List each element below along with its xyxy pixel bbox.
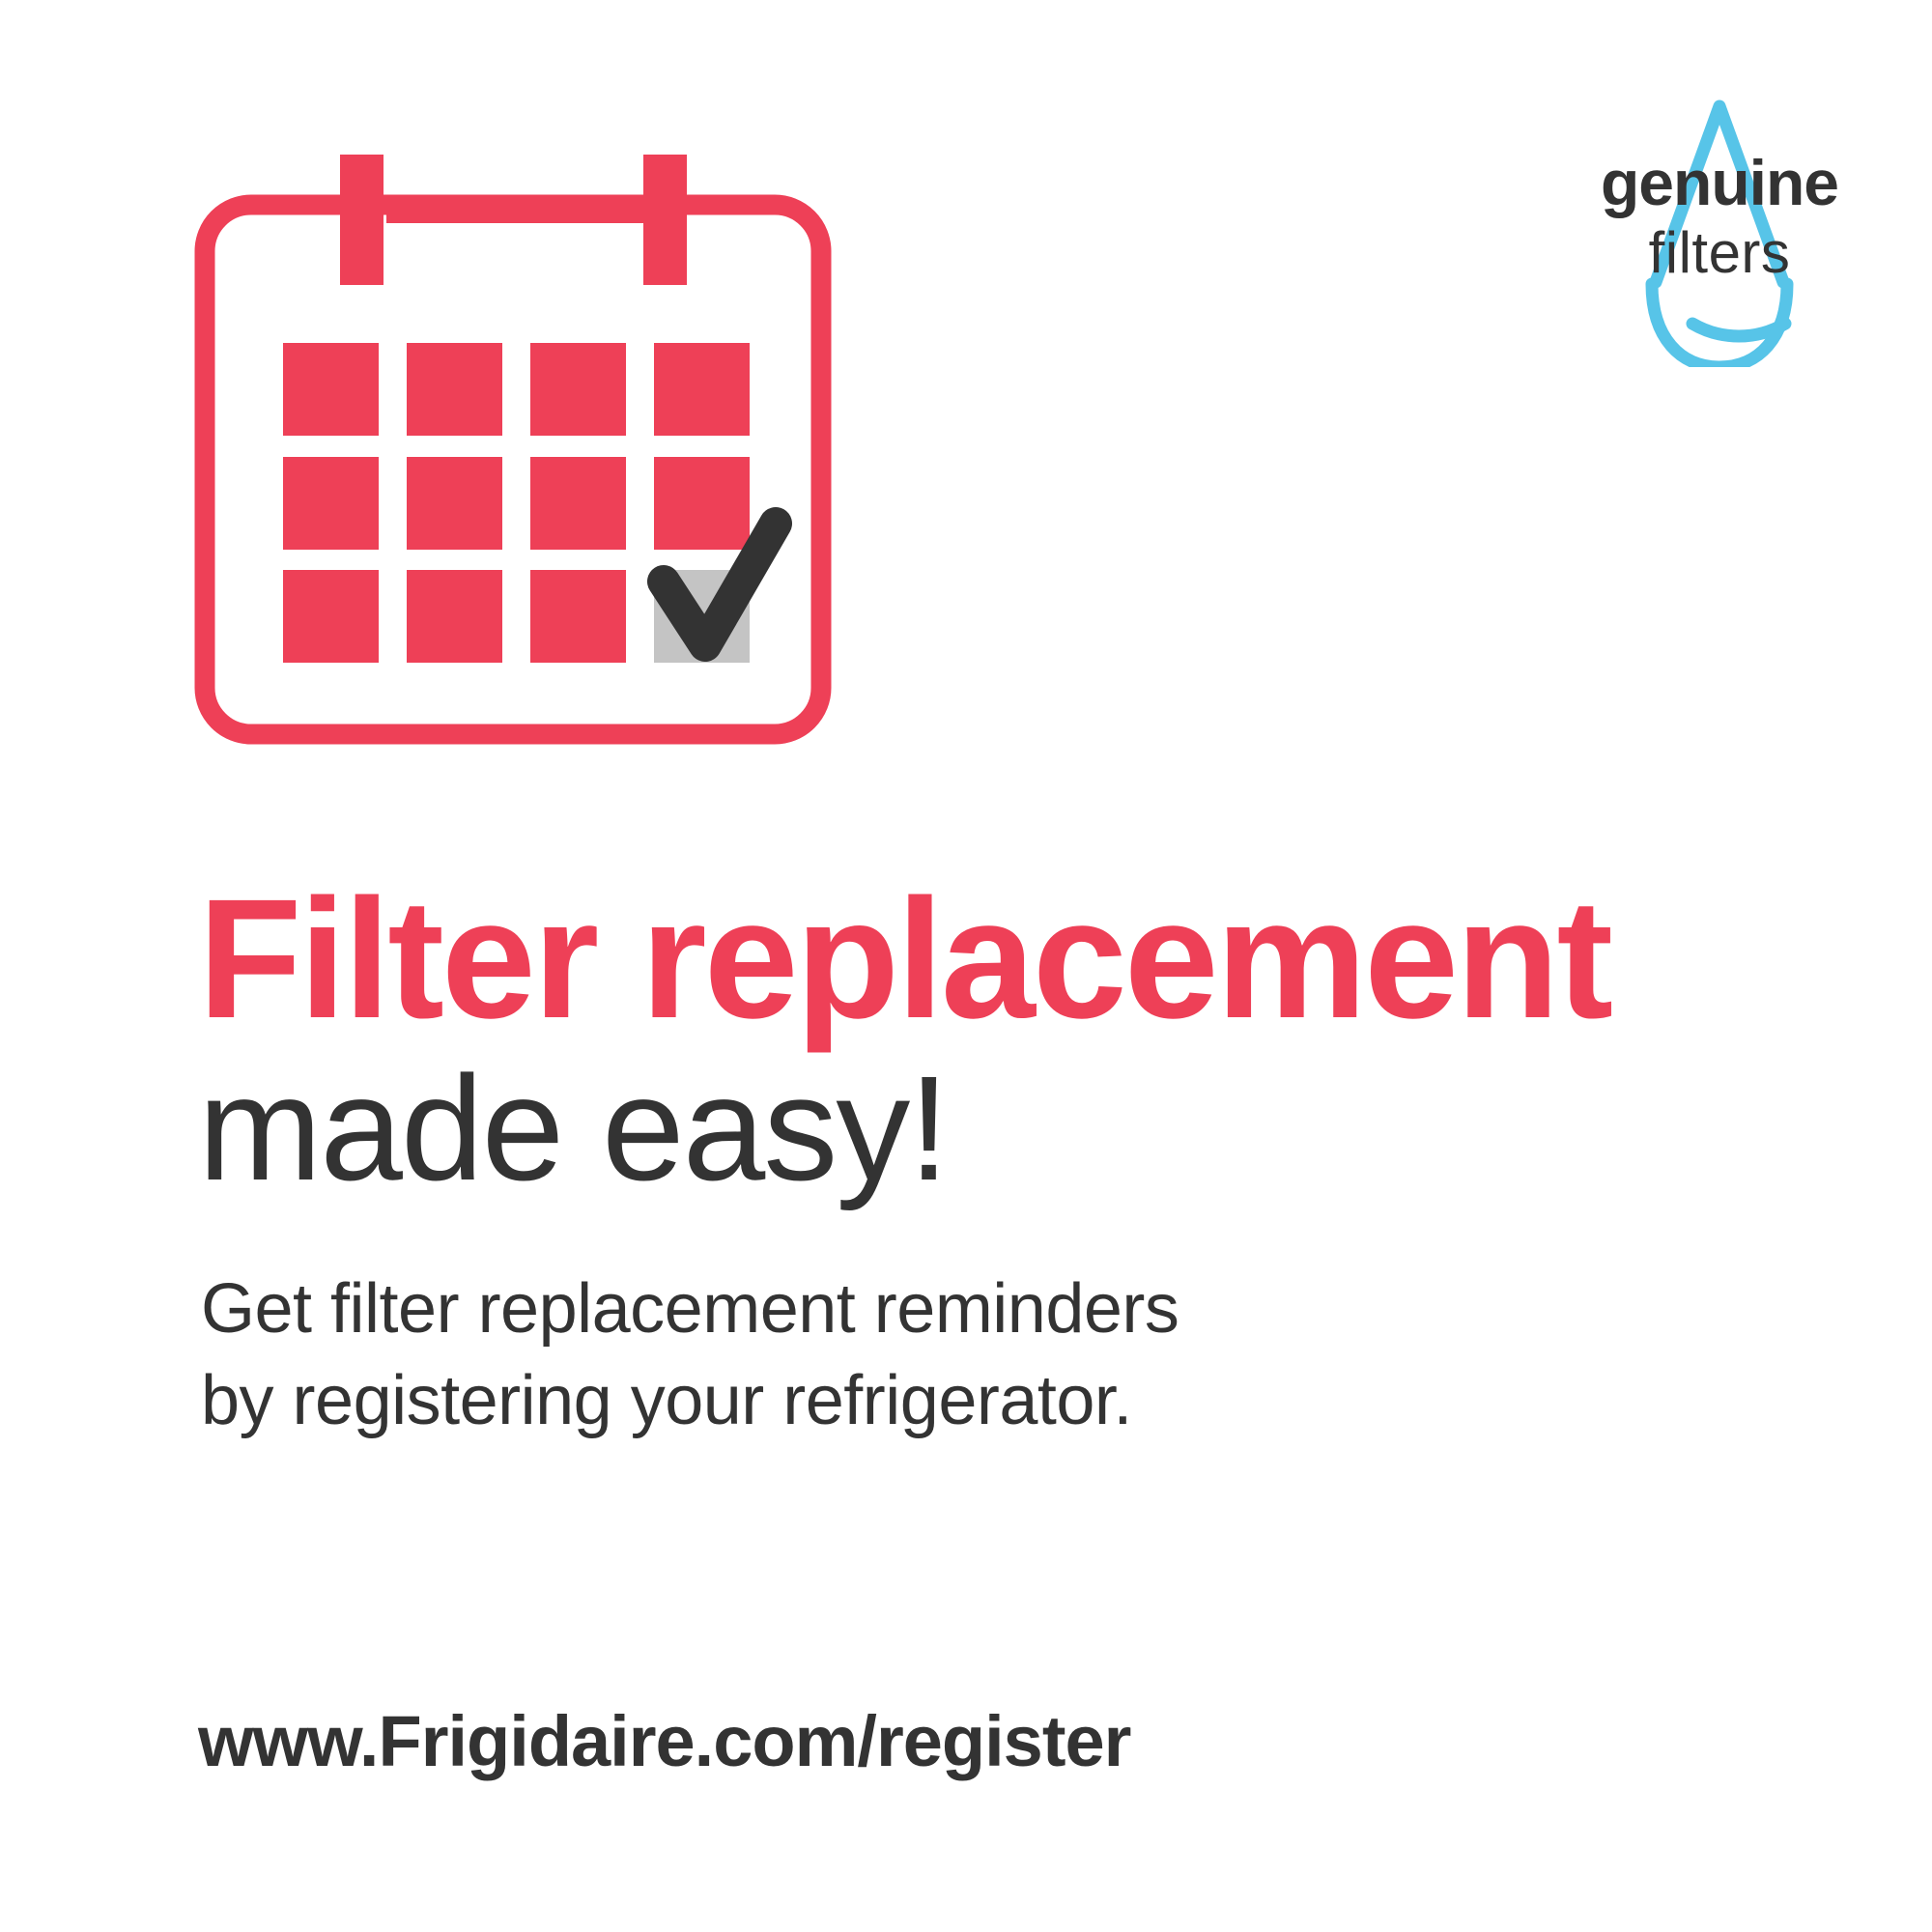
promo-card: genuine filters xyxy=(0,0,1932,1932)
headline-line-1: Filter replacement xyxy=(198,874,1840,1044)
calendar-cell xyxy=(530,343,626,436)
calendar-cell xyxy=(530,457,626,550)
calendar-cell xyxy=(407,457,502,550)
headline-line-2: made easy! xyxy=(198,1044,1840,1214)
genuine-filters-logo: genuine filters xyxy=(1565,77,1874,367)
calendar-cell xyxy=(407,343,502,436)
calendar-cell xyxy=(654,343,750,436)
logo-word-filters: filters xyxy=(1565,224,1874,282)
calendar-cell xyxy=(407,570,502,663)
logo-word-genuine: genuine xyxy=(1565,151,1874,214)
calendar-tab-left xyxy=(340,155,384,285)
calendar-cell xyxy=(283,570,379,663)
calendar-cell xyxy=(283,457,379,550)
body-line-2: by registering your refrigerator. xyxy=(201,1355,1650,1447)
calendar-cell xyxy=(654,457,750,550)
body-line-1: Get filter replacement reminders xyxy=(201,1264,1650,1355)
calendar-with-check-icon xyxy=(193,145,850,763)
calendar-tab-right xyxy=(643,155,687,285)
register-url-link[interactable]: www.Frigidaire.com/register xyxy=(198,1700,1130,1782)
calendar-cell xyxy=(283,343,379,436)
page-title: Filter replacement made easy! xyxy=(198,874,1840,1214)
calendar-top-rail xyxy=(386,203,676,223)
body-copy: Get filter replacement reminders by regi… xyxy=(201,1264,1650,1447)
calendar-cell xyxy=(530,570,626,663)
